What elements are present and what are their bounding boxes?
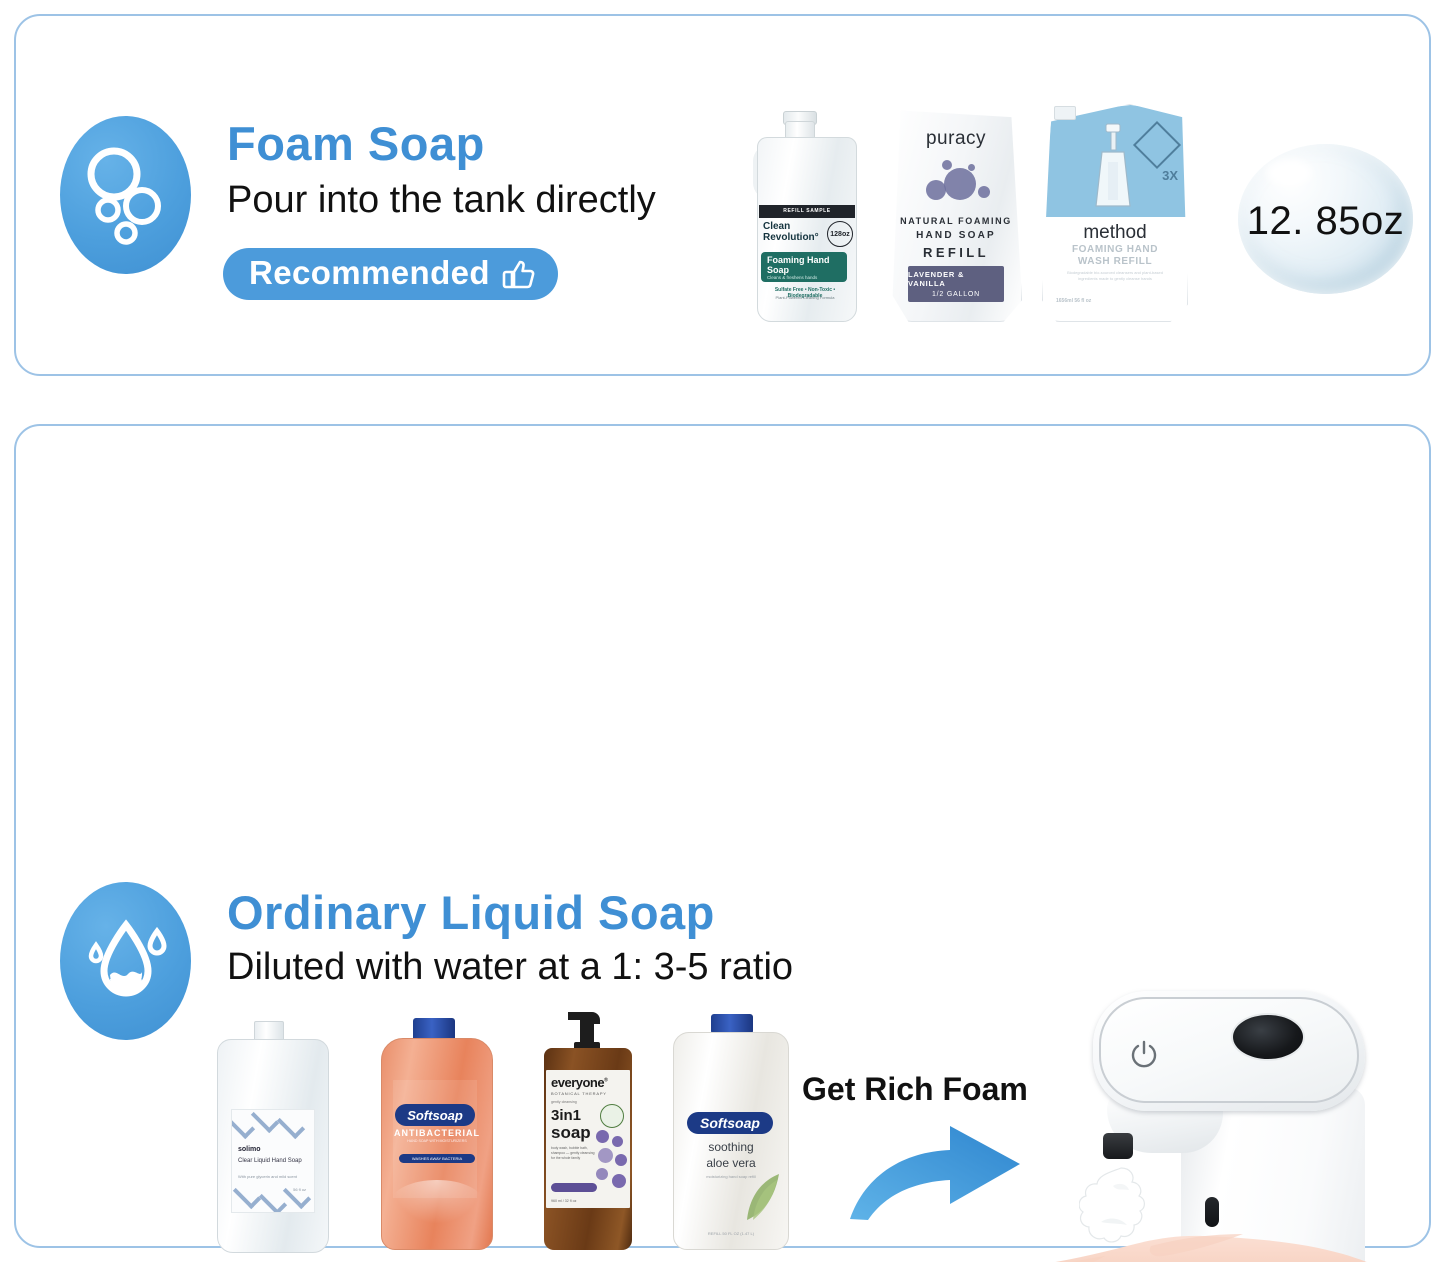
water-drop-icon	[60, 882, 191, 1040]
jug-top-bar: REFILL SAMPLE	[759, 205, 855, 218]
ordinary-soap-subtitle: Diluted with water at a 1: 3-5 ratio	[227, 946, 793, 989]
softsoap-anti-line1: ANTIBACTERIAL	[377, 1128, 497, 1138]
power-icon[interactable]	[1129, 1039, 1159, 1069]
puracy-line3: REFILL	[890, 245, 1022, 260]
puracy-artwork	[922, 160, 992, 208]
recommended-badge: Recommended	[223, 248, 558, 300]
dispenser-display	[1231, 1013, 1305, 1061]
softsoap-anti-bar: WASHES AWAY BACTERIA	[399, 1154, 475, 1163]
solimo-brand: solimo	[238, 1146, 261, 1153]
infographic-page: Foam Soap Pour into the tank directly Re…	[0, 0, 1445, 1262]
solimo-line1: Clear Liquid Hand Soap	[238, 1158, 308, 1165]
product-everyone-3in1: everyone® BOTANICAL THERAPY gently clean…	[536, 1006, 640, 1250]
solimo-neck	[254, 1021, 284, 1041]
everyone-soap: soap	[551, 1124, 591, 1141]
thumbs-up-icon	[502, 258, 536, 290]
method-brand: method	[1042, 222, 1188, 244]
foam-soap-subtitle: Pour into the tank directly	[227, 179, 656, 222]
softsoap-anti-cap	[413, 1018, 455, 1040]
jug-fine-print: Plant-Powered Cleaning Formula	[761, 295, 849, 300]
aloe-leaf-icon	[743, 1170, 783, 1222]
method-sub: FOAMING HAND WASH REFILL	[1042, 244, 1188, 268]
hand-illustration	[921, 1186, 1445, 1262]
capacity-bubble: 12. 85oz	[1238, 144, 1413, 294]
get-rich-foam-callout: Get Rich Foam	[802, 1071, 1028, 1108]
foam-soap-card: Foam Soap Pour into the tank directly Re…	[14, 14, 1431, 376]
capacity-value: 12. 85oz	[1247, 199, 1404, 244]
method-3x-badge: 3X	[1162, 168, 1178, 183]
softsoap-anti-wave-art	[391, 1180, 483, 1224]
foam-soap-title: Foam Soap	[227, 116, 485, 171]
softsoap-aloe-volume: REFILL 50 FL OZ (1.47 L)	[671, 1231, 791, 1236]
product-softsoap-antibacterial: Softsoap ANTIBACTERIAL HAND SOAP WITH MO…	[377, 1018, 497, 1250]
softsoap-aloe-cap	[711, 1014, 753, 1034]
everyone-seal-icon	[600, 1104, 624, 1128]
softsoap-aloe-line1: soothing	[671, 1140, 791, 1154]
jug-brand: Clean Revolution°	[763, 221, 825, 243]
puracy-variant-tag: LAVENDER & VANILLA 1/2 GALLON	[908, 266, 1004, 302]
everyone-3in1: 3in1	[551, 1108, 581, 1123]
recommended-label: Recommended	[249, 256, 490, 289]
everyone-pump	[560, 1006, 616, 1050]
foam-blob	[1079, 1166, 1169, 1262]
softsoap-aloe-line2: aloe vera	[671, 1156, 791, 1170]
solimo-volume: 56 fl oz	[293, 1187, 306, 1192]
method-volume: 1656ml 56 fl oz	[1056, 298, 1091, 304]
bubbles-icon	[60, 116, 191, 274]
everyone-brand: everyone®	[551, 1075, 607, 1090]
everyone-description: body wash, bubble bath, shampoo — gently…	[551, 1146, 595, 1161]
solimo-label: solimo Clear Liquid Hand Soap With pure …	[231, 1109, 315, 1213]
method-pump-illustration	[1090, 122, 1136, 214]
product-solimo-bottle: solimo Clear Liquid Hand Soap With pure …	[214, 1021, 332, 1253]
everyone-sub: BOTANICAL THERAPY	[551, 1091, 607, 1096]
puracy-line1: NATURAL FOAMING	[890, 216, 1022, 226]
solimo-line2: With pure glycerin and mild scent	[238, 1174, 308, 1179]
everyone-tiny: gently cleansing	[551, 1100, 577, 1104]
softsoap-anti-line2: HAND SOAP WITH MOISTURIZERS	[399, 1139, 475, 1144]
product-softsoap-aloe: Softsoap soothing aloe vera moisturizing…	[671, 1014, 791, 1250]
product-puracy-pouch: puracy NATURAL FOAMING HAND SOAP REFILL …	[890, 104, 1022, 322]
dispenser-nozzle	[1103, 1133, 1133, 1159]
jug-product-line: Foaming Hand Soap Cleans & freshens hand…	[761, 252, 847, 282]
method-spout	[1054, 106, 1076, 120]
product-clean-revolution-jug: REFILL SAMPLE Clean Revolution° 128oz Fo…	[749, 109, 865, 322]
everyone-dot-pattern	[594, 1130, 628, 1194]
everyone-volume: 960 ml / 32 fl oz	[551, 1199, 576, 1203]
softsoap-anti-brand: Softsoap	[395, 1104, 475, 1126]
softsoap-aloe-brand: Softsoap	[687, 1112, 773, 1134]
ordinary-soap-title: Ordinary Liquid Soap	[227, 885, 715, 940]
ordinary-liquid-soap-card: Ordinary Liquid Soap Diluted with water …	[14, 424, 1431, 1248]
puracy-line2: HAND SOAP	[890, 230, 1022, 241]
everyone-pill	[551, 1183, 597, 1192]
product-method-pouch: 3X method FOAMING HAND WASH REFILL Biode…	[1042, 104, 1188, 322]
puracy-brand: puracy	[890, 128, 1022, 150]
jug-size-badge: 128oz	[827, 221, 853, 247]
method-fine-print: Biodegradable bio-sourced cleansers and …	[1060, 270, 1170, 282]
everyone-label: everyone® BOTANICAL THERAPY gently clean…	[546, 1070, 630, 1208]
